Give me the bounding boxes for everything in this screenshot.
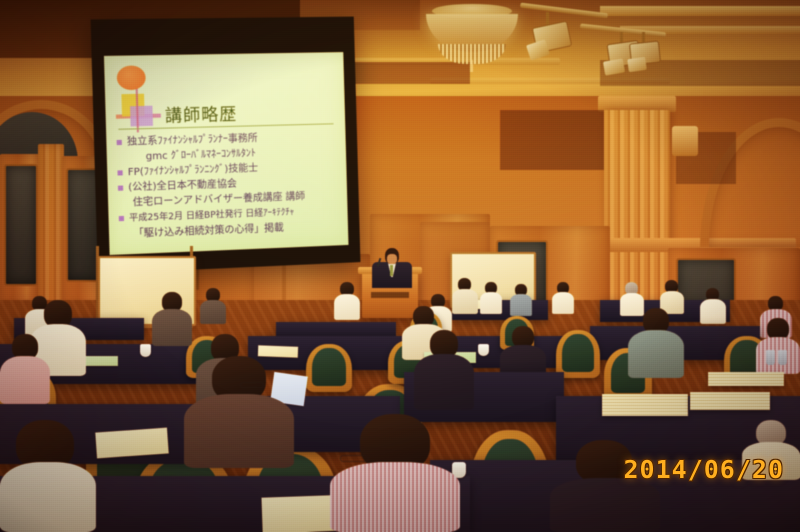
audience-member [550,440,660,532]
chandelier [424,4,520,70]
audience-member [334,282,360,320]
presentation-slide: 講師略歴 独立系ﾌｧｲﾅﾝｼｬﾙﾌﾟﾗﾝﾅｰ事務所 gmc ｸﾞﾛｰﾊﾞﾙﾏﾈｰ… [104,52,348,255]
audience-member [0,334,50,404]
audience-member [414,330,474,410]
orange-circle-decoration [117,65,146,90]
bullet-icon [119,215,124,220]
bullet-icon [117,139,122,144]
audience-member [452,278,478,314]
document-stack [690,392,770,410]
speaker-tie [390,265,393,276]
coffee-cup [478,344,489,356]
audience-member [628,308,684,378]
audience-member [510,284,532,316]
document-stack [708,372,784,386]
bullet-icon [118,185,123,190]
audience-member [700,288,726,324]
audience-member [552,282,574,314]
projection-screen: 講師略歴 独立系ﾌｧｲﾅﾝｼｬﾙﾌﾟﾗﾝﾅｰ事務所 gmc ｸﾞﾛｰﾊﾞﾙﾏﾈｰ… [91,17,361,274]
slide-body: 独立系ﾌｧｲﾅﾝｼｬﾙﾌﾟﾗﾝﾅｰ事務所 gmc ｸﾞﾛｰﾊﾞﾙﾏﾈｰｺﾝｻﾙﾀ… [116,129,342,242]
drinking-glass [766,350,775,365]
audience-member [756,318,800,374]
audience-member [480,282,502,314]
spotlight-icon [612,26,692,82]
coffee-cup [140,344,151,357]
camera-timestamp: 2014/06/20 [623,455,784,484]
document-stack [602,394,688,416]
speaker-face [387,254,397,264]
audience-member [184,356,294,468]
audience-member [200,288,226,324]
banquet-chair [556,330,600,378]
audience-member [152,292,192,346]
eyeglasses-icon [240,382,264,388]
purple-square-decoration [130,106,153,127]
bullet-icon [117,170,122,175]
handout-paper [95,428,169,459]
audience-member [0,420,96,532]
eyeglasses-icon [340,455,368,462]
audience-member [330,414,460,532]
seminar-photograph: 講師略歴 独立系ﾌｧｲﾅﾝｼｬﾙﾌﾟﾗﾝﾅｰ事務所 gmc ｸﾞﾛｰﾊﾞﾙﾏﾈｰ… [0,0,800,532]
banquet-chair [306,344,352,392]
slide-title: 講師略歴 [165,100,238,127]
drinking-glass [778,350,787,365]
